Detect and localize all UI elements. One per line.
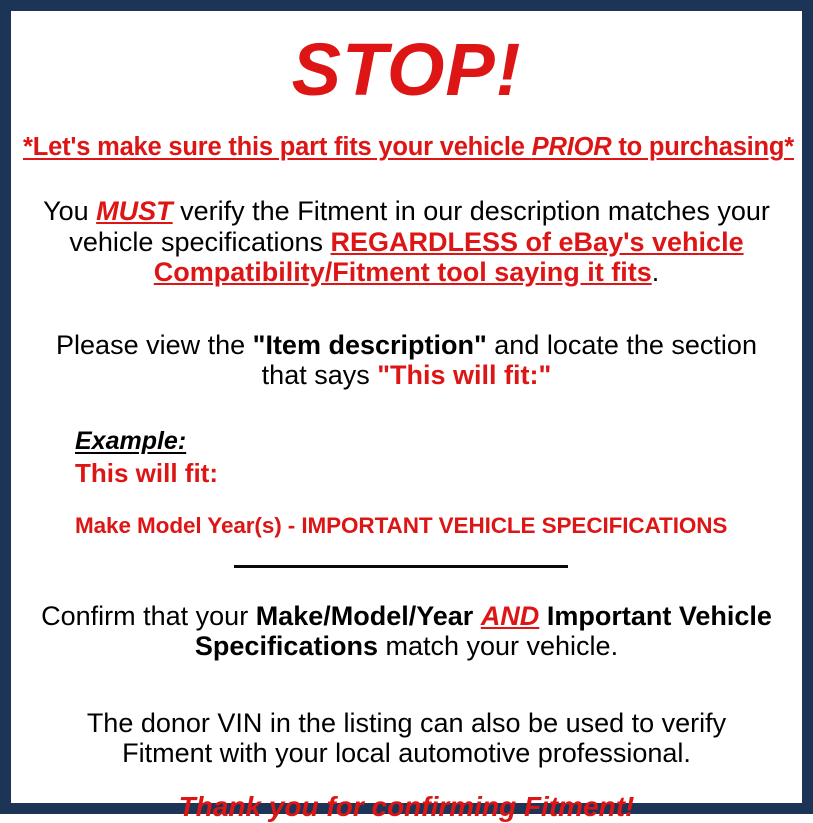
must-emphasis: MUST (96, 196, 173, 226)
must-seg-1: You (43, 196, 96, 226)
donor-vin-paragraph: The donor VIN in the listing can also be… (23, 708, 790, 769)
example-will-fit-label: This will fit: (75, 458, 790, 489)
must-verify-paragraph: You MUST verify the Fitment in our descr… (23, 196, 790, 288)
thank-you-line: Thank you for confirming Fitment! (23, 791, 790, 823)
confirm-seg-2 (473, 601, 481, 631)
example-block: Example: This will fit: Make Model Year(… (23, 427, 790, 539)
example-spec-line: Make Model Year(s) - IMPORTANT VEHICLE S… (75, 513, 790, 539)
this-will-fit-emphasis: "This will fit:" (377, 360, 551, 390)
subtitle-text-before: *Let's make sure this part fits your veh… (23, 133, 532, 161)
subtitle-line: *Let's make sure this part fits your veh… (23, 133, 790, 162)
confirm-paragraph: Confirm that your Make/Model/Year AND Im… (23, 601, 790, 662)
confirm-seg-1: Confirm that your (41, 601, 256, 631)
subtitle-emphasis-prior: PRIOR (532, 133, 612, 161)
view-seg-1: Please view the (56, 330, 253, 360)
stop-heading: STOP! (23, 23, 790, 107)
subtitle-text-after: to purchasing* (611, 133, 794, 161)
item-description-emphasis: "Item description" (253, 330, 487, 360)
fitment-notice-card: STOP! *Let's make sure this part fits yo… (0, 0, 813, 814)
divider (23, 561, 790, 573)
divider-rule (234, 565, 568, 568)
make-model-year-emphasis: Make/Model/Year (256, 601, 474, 631)
confirm-seg-3 (539, 601, 547, 631)
example-label-row: Example: (75, 427, 790, 456)
notice-content: STOP! *Let's make sure this part fits yo… (11, 23, 802, 815)
confirm-seg-4: match your vehicle. (378, 631, 618, 661)
must-seg-3: . (652, 257, 660, 287)
item-description-paragraph: Please view the "Item description" and l… (23, 330, 790, 391)
example-label: Example: (75, 427, 186, 456)
and-emphasis: AND (481, 601, 540, 631)
